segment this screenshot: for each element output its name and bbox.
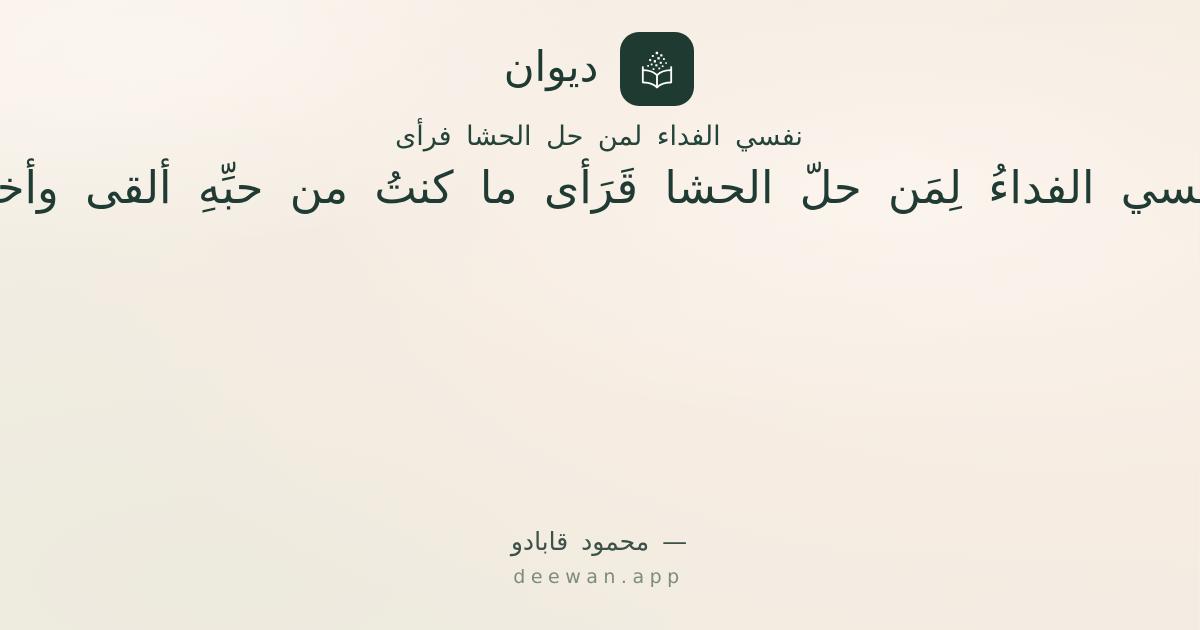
app-logo-tile — [621, 32, 695, 106]
app-name: ديوان — [505, 46, 600, 92]
poem-title: نفسي الفداء لمن حل الحشا فرأى — [396, 120, 804, 154]
brand-header: ديوان — [505, 32, 696, 106]
verse-line: نَفسي الفداءُ لِمَن حلّ الحشا قَرَأى ما … — [0, 158, 1200, 219]
verse-container: نَفسي الفداءُ لِمَن حلّ الحشا قَرَأى ما … — [0, 158, 1200, 219]
share-card: ديوان نفسي الفداء لمن حل الحشا فرأى نَفس… — [0, 0, 1200, 630]
site-url: deewan.app — [514, 566, 685, 588]
open-book-sparkles-icon — [635, 46, 681, 92]
card-footer: — محمود قابادو deewan.app — [0, 527, 1200, 588]
poet-attribution: — محمود قابادو — [512, 527, 688, 556]
